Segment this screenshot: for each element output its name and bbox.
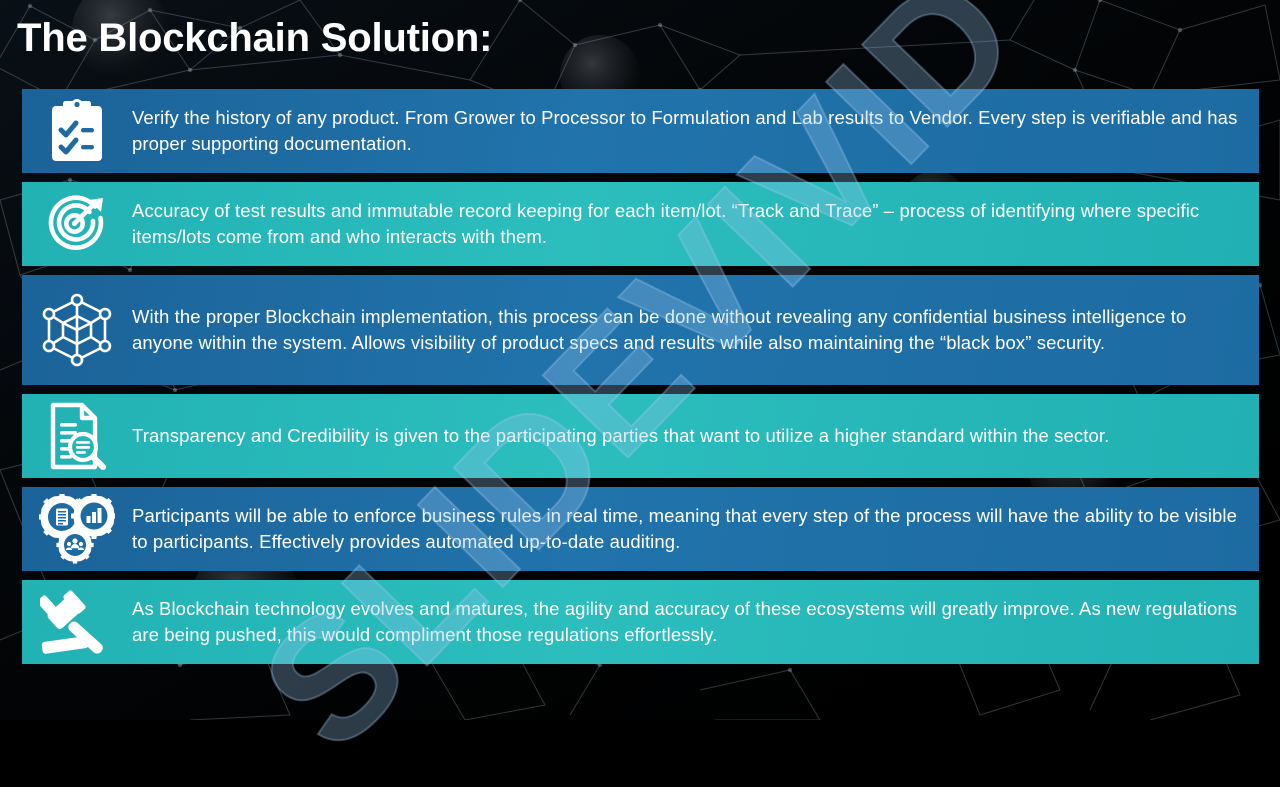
target-dartboard-icon [22, 182, 132, 266]
gavel-icon [22, 580, 132, 664]
bullet-text-cell: With the proper Blockchain implementatio… [132, 275, 1259, 385]
bullet-text-1: Verify the history of any product. From … [132, 105, 1241, 158]
gears-process-icon [22, 487, 132, 571]
bullet-row-5[interactable]: Participants will be able to enforce bus… [22, 487, 1259, 571]
bullet-row-2[interactable]: Accuracy of test results and immutable r… [22, 182, 1259, 266]
bullet-row-6[interactable]: As Blockchain technology evolves and mat… [22, 580, 1259, 664]
bullet-text-3: With the proper Blockchain implementatio… [132, 304, 1241, 357]
bullet-text-cell: Verify the history of any product. From … [132, 89, 1259, 173]
bullet-text-6: As Blockchain technology evolves and mat… [132, 596, 1241, 649]
bullet-text-cell: Accuracy of test results and immutable r… [132, 182, 1259, 266]
bullet-text-cell: Transparency and Credibility is given to… [132, 394, 1259, 478]
bullet-row-4[interactable]: Transparency and Credibility is given to… [22, 394, 1259, 478]
bullet-text-4: Transparency and Credibility is given to… [132, 423, 1109, 449]
bullet-rows-container: Verify the history of any product. From … [22, 89, 1259, 673]
bullet-text-2: Accuracy of test results and immutable r… [132, 198, 1241, 251]
bullet-text-cell: As Blockchain technology evolves and mat… [132, 580, 1259, 664]
document-magnifier-icon [22, 394, 132, 478]
bullet-text-5: Participants will be able to enforce bus… [132, 503, 1241, 556]
bullet-row-1[interactable]: Verify the history of any product. From … [22, 89, 1259, 173]
page-title: The Blockchain Solution: [17, 16, 492, 60]
bullet-text-cell: Participants will be able to enforce bus… [132, 487, 1259, 571]
bullet-row-3[interactable]: With the proper Blockchain implementatio… [22, 275, 1259, 385]
blockchain-network-nodes-icon [22, 275, 132, 385]
clipboard-checklist-icon [22, 89, 132, 173]
